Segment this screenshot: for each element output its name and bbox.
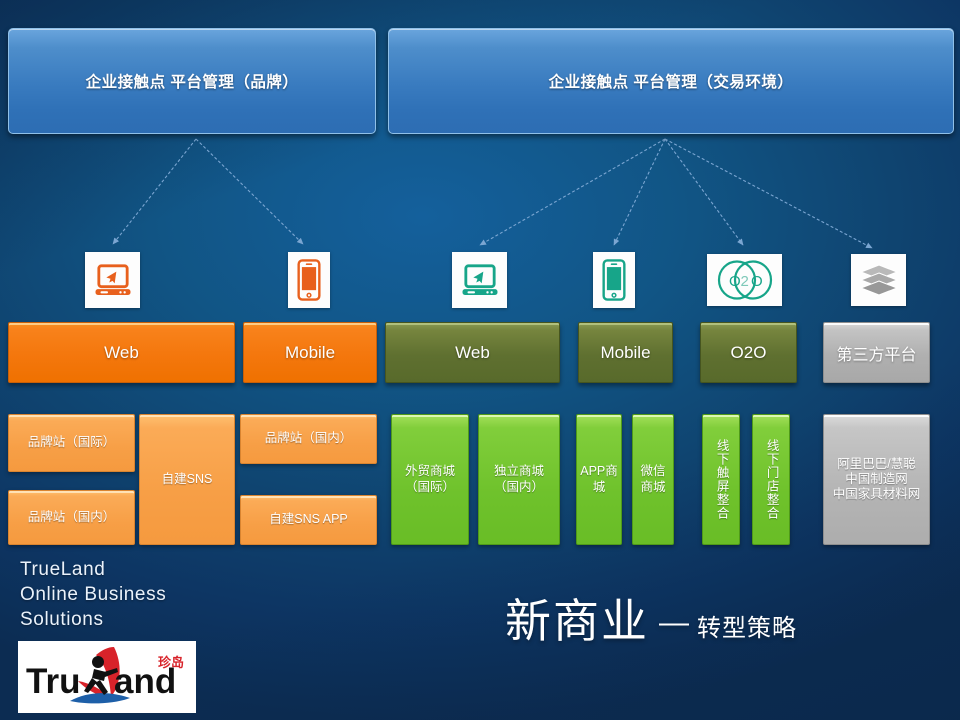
header-box-trade-label: 企业接触点 平台管理（交易环境） bbox=[549, 70, 794, 92]
header-box-brand[interactable]: 企业接触点 平台管理（品牌） bbox=[8, 28, 376, 134]
bar-mobile-brand-label: Mobile bbox=[285, 343, 335, 363]
leaf-offline-touch-label: 线下触屏整合 bbox=[714, 439, 727, 520]
svg-text:O: O bbox=[729, 273, 741, 290]
stacked-layers-icon bbox=[858, 262, 900, 298]
leaf-self-sns-app[interactable]: 自建SNS APP bbox=[240, 495, 377, 545]
leaf-offline-touch[interactable]: 线下触屏整合 bbox=[702, 414, 740, 545]
leaf-brand-site-domestic[interactable]: 品牌站（国内） bbox=[8, 490, 135, 545]
icon-tile-web-brand[interactable] bbox=[85, 252, 140, 308]
bar-third-party[interactable]: 第三方平台 bbox=[823, 322, 930, 383]
svg-text:O: O bbox=[751, 273, 763, 290]
company-name-line1: TrueLand bbox=[20, 557, 250, 582]
arrow-to-o2o bbox=[665, 139, 743, 245]
slide-canvas: 企业接触点 平台管理（品牌） 企业接触点 平台管理（交易环境） bbox=[0, 0, 960, 720]
leaf-independent-mall[interactable]: 独立商城（国内） bbox=[478, 414, 560, 545]
trueland-logo-icon: Tru and 珍岛 bbox=[18, 641, 196, 713]
arrow-to-web-trade bbox=[480, 139, 665, 245]
svg-text:珍岛: 珍岛 bbox=[158, 655, 184, 671]
leaf-self-sns[interactable]: 自建SNS bbox=[139, 414, 235, 545]
tagline-main: 新商业 bbox=[505, 598, 649, 644]
bar-mobile-brand[interactable]: Mobile bbox=[243, 322, 377, 383]
smartphone-icon bbox=[602, 258, 626, 302]
arrow-to-third-party bbox=[665, 139, 872, 248]
bar-third-party-label: 第三方平台 bbox=[836, 341, 916, 365]
leaf-brand-site-cn-label: 品牌站（国内） bbox=[265, 431, 353, 446]
bar-web-brand-label: Web bbox=[104, 343, 139, 363]
o2o-venn-icon: O 2 O bbox=[712, 259, 778, 301]
bar-mobile-trade-label: Mobile bbox=[600, 343, 650, 363]
company-tagline: TrueLand Online Business Solutions bbox=[20, 557, 250, 632]
tagline-dash: — bbox=[659, 608, 689, 638]
leaf-independent-mall-label: 独立商城（国内） bbox=[482, 464, 556, 495]
leaf-wechat-mall[interactable]: 微信商城 bbox=[632, 414, 674, 545]
arrow-to-mobile-trade bbox=[614, 139, 665, 245]
icon-tile-web-trade[interactable] bbox=[452, 252, 507, 308]
bar-web-trade-label: Web bbox=[455, 343, 490, 363]
smartphone-icon bbox=[297, 258, 321, 302]
company-name-line2: Online Business bbox=[20, 582, 250, 607]
trueland-logo: Tru and 珍岛 bbox=[18, 641, 196, 713]
icon-tile-o2o[interactable]: O 2 O bbox=[707, 254, 782, 306]
bar-o2o[interactable]: O2O bbox=[700, 322, 797, 383]
leaf-app-mall-label: APP商城 bbox=[580, 464, 618, 495]
leaf-third-party-list-label: 阿里巴巴/慧聪 中国制造网 中国家具材料网 bbox=[833, 457, 921, 503]
leaf-offline-store-label: 线下门店整合 bbox=[764, 439, 777, 520]
leaf-brand-site-domestic-label: 品牌站（国内） bbox=[28, 510, 116, 525]
leaf-wechat-mall-label: 微信商城 bbox=[636, 464, 670, 495]
leaf-self-sns-label: 自建SNS bbox=[162, 472, 213, 487]
bar-o2o-label: O2O bbox=[731, 343, 767, 363]
leaf-third-party-list[interactable]: 阿里巴巴/慧聪 中国制造网 中国家具材料网 bbox=[823, 414, 930, 545]
header-box-trade[interactable]: 企业接触点 平台管理（交易环境） bbox=[388, 28, 954, 134]
arrow-to-web-brand bbox=[113, 139, 196, 244]
slide-tagline: 新商业 — 转型策略 bbox=[505, 598, 797, 644]
tagline-sub: 转型策略 bbox=[697, 617, 797, 641]
icon-tile-mobile-trade[interactable] bbox=[593, 252, 635, 308]
leaf-offline-store[interactable]: 线下门店整合 bbox=[752, 414, 790, 545]
icon-tile-third-party[interactable] bbox=[851, 254, 906, 306]
svg-text:2: 2 bbox=[740, 273, 748, 290]
header-box-brand-label: 企业接触点 平台管理（品牌） bbox=[86, 70, 299, 92]
arrow-to-mobile-brand bbox=[196, 139, 303, 244]
leaf-foreign-trade-mall[interactable]: 外贸商城（国际） bbox=[391, 414, 469, 545]
bar-mobile-trade[interactable]: Mobile bbox=[578, 322, 673, 383]
laptop-cursor-icon bbox=[93, 260, 133, 300]
company-name-line3: Solutions bbox=[20, 607, 250, 632]
leaf-app-mall[interactable]: APP商城 bbox=[576, 414, 622, 545]
laptop-cursor-icon bbox=[460, 260, 500, 300]
bar-web-trade[interactable]: Web bbox=[385, 322, 560, 383]
leaf-self-sns-app-label: 自建SNS APP bbox=[269, 512, 348, 527]
leaf-brand-site-cn[interactable]: 品牌站（国内） bbox=[240, 414, 377, 464]
icon-tile-mobile-brand[interactable] bbox=[288, 252, 330, 308]
leaf-foreign-trade-mall-label: 外贸商城（国际） bbox=[395, 464, 465, 495]
bar-web-brand[interactable]: Web bbox=[8, 322, 235, 383]
leaf-brand-site-intl-label: 品牌站（国际） bbox=[28, 435, 116, 450]
svg-text:Tru: Tru bbox=[26, 662, 80, 701]
leaf-brand-site-intl[interactable]: 品牌站（国际） bbox=[8, 414, 135, 472]
